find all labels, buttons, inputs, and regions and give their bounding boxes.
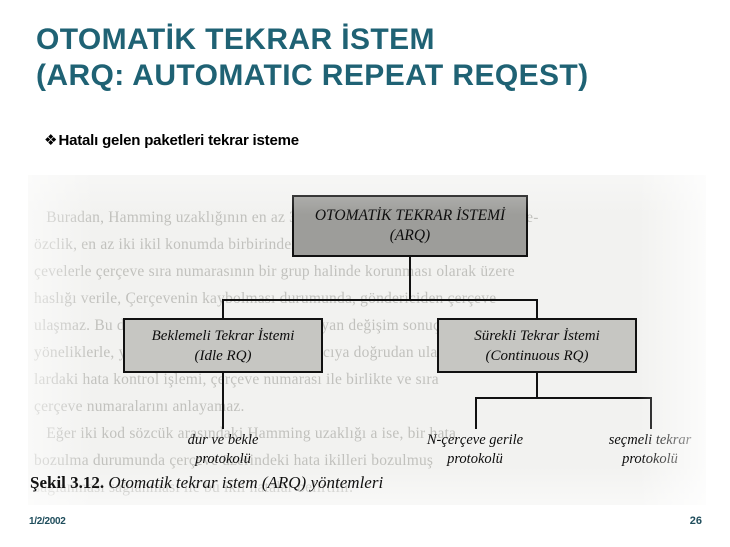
diagram-node-continuous-rq: Sürekli Tekrar İstemi (Continuous RQ) <box>437 318 637 373</box>
diagram-leaf-dur-ve-bekle: dur ve bekle protokolü <box>147 431 299 469</box>
connector-to-continuous-rq <box>536 299 538 319</box>
diagram-leaf-dur-ve-bekle-line2: protokolü <box>147 450 299 469</box>
connector-to-n-cerceve-leaf <box>475 397 477 429</box>
figure-caption-text: Otomatik tekrar istem (ARQ) yöntemleri <box>108 473 383 492</box>
scanned-figure-region: Buradan, Hamming uzaklığının en az 3 olm… <box>28 175 706 505</box>
figure-caption: Şekil 3.12. Otomatik tekrar istem (ARQ) … <box>30 473 383 493</box>
connector-to-secmeli-leaf <box>650 397 652 429</box>
connector-to-idle-rq <box>222 299 224 319</box>
arq-tree-diagram: OTOMATİK TEKRAR İSTEMİ (ARQ) Beklemeli T… <box>28 175 706 475</box>
title-line-1: OTOMATİK TEKRAR İSTEM <box>36 22 696 58</box>
diamond-bullet-icon: ❖ <box>44 131 57 149</box>
figure-caption-label: Şekil 3.12. <box>30 473 104 492</box>
diagram-leaf-secmeli-tekrar: seçmeli tekrar protokolü <box>577 431 706 469</box>
page-title: OTOMATİK TEKRAR İSTEM (ARQ: AUTOMATIC RE… <box>36 22 696 94</box>
footer-date: 1/2/2002 <box>29 516 66 527</box>
diagram-node-root-line2: (ARQ) <box>390 226 430 246</box>
connector-idle-rq-to-leaf <box>222 373 224 429</box>
diagram-node-idle-rq-line2: (Idle RQ) <box>194 346 251 366</box>
connector-continuous-rq-stem <box>536 373 538 398</box>
slide: OTOMATİK TEKRAR İSTEM (ARQ: AUTOMATIC RE… <box>0 0 730 547</box>
footer-page-number: 26 <box>690 515 702 527</box>
diagram-leaf-secmeli-tekrar-line2: protokolü <box>577 450 706 469</box>
diagram-leaf-secmeli-tekrar-line1: seçmeli tekrar <box>577 431 706 450</box>
diagram-leaf-n-cerceve-gerile: N-çerçeve gerile protokolü <box>396 431 554 469</box>
diagram-node-root: OTOMATİK TEKRAR İSTEMİ (ARQ) <box>292 195 528 257</box>
diagram-leaf-dur-ve-bekle-line1: dur ve bekle <box>147 431 299 450</box>
title-line-2: (ARQ: AUTOMATIC REPEAT REQEST) <box>36 58 696 94</box>
connector-level2-bar <box>475 397 652 399</box>
diagram-node-idle-rq-line1: Beklemeli Tekrar İstemi <box>152 326 295 346</box>
diagram-leaf-n-cerceve-gerile-line2: protokolü <box>396 450 554 469</box>
diagram-node-continuous-rq-line2: (Continuous RQ) <box>486 346 589 366</box>
connector-level1-bar <box>222 299 538 301</box>
bullet-list-item: ❖ Hatalı gelen paketleri tekrar isteme <box>44 131 299 150</box>
diagram-leaf-n-cerceve-gerile-line1: N-çerçeve gerile <box>396 431 554 450</box>
bullet-item-label: Hatalı gelen paketleri tekrar isteme <box>58 132 298 150</box>
diagram-node-idle-rq: Beklemeli Tekrar İstemi (Idle RQ) <box>123 318 323 373</box>
diagram-node-root-line1: OTOMATİK TEKRAR İSTEMİ <box>315 206 505 226</box>
diagram-node-continuous-rq-line1: Sürekli Tekrar İstemi <box>474 326 600 346</box>
connector-root-stem <box>409 257 411 300</box>
